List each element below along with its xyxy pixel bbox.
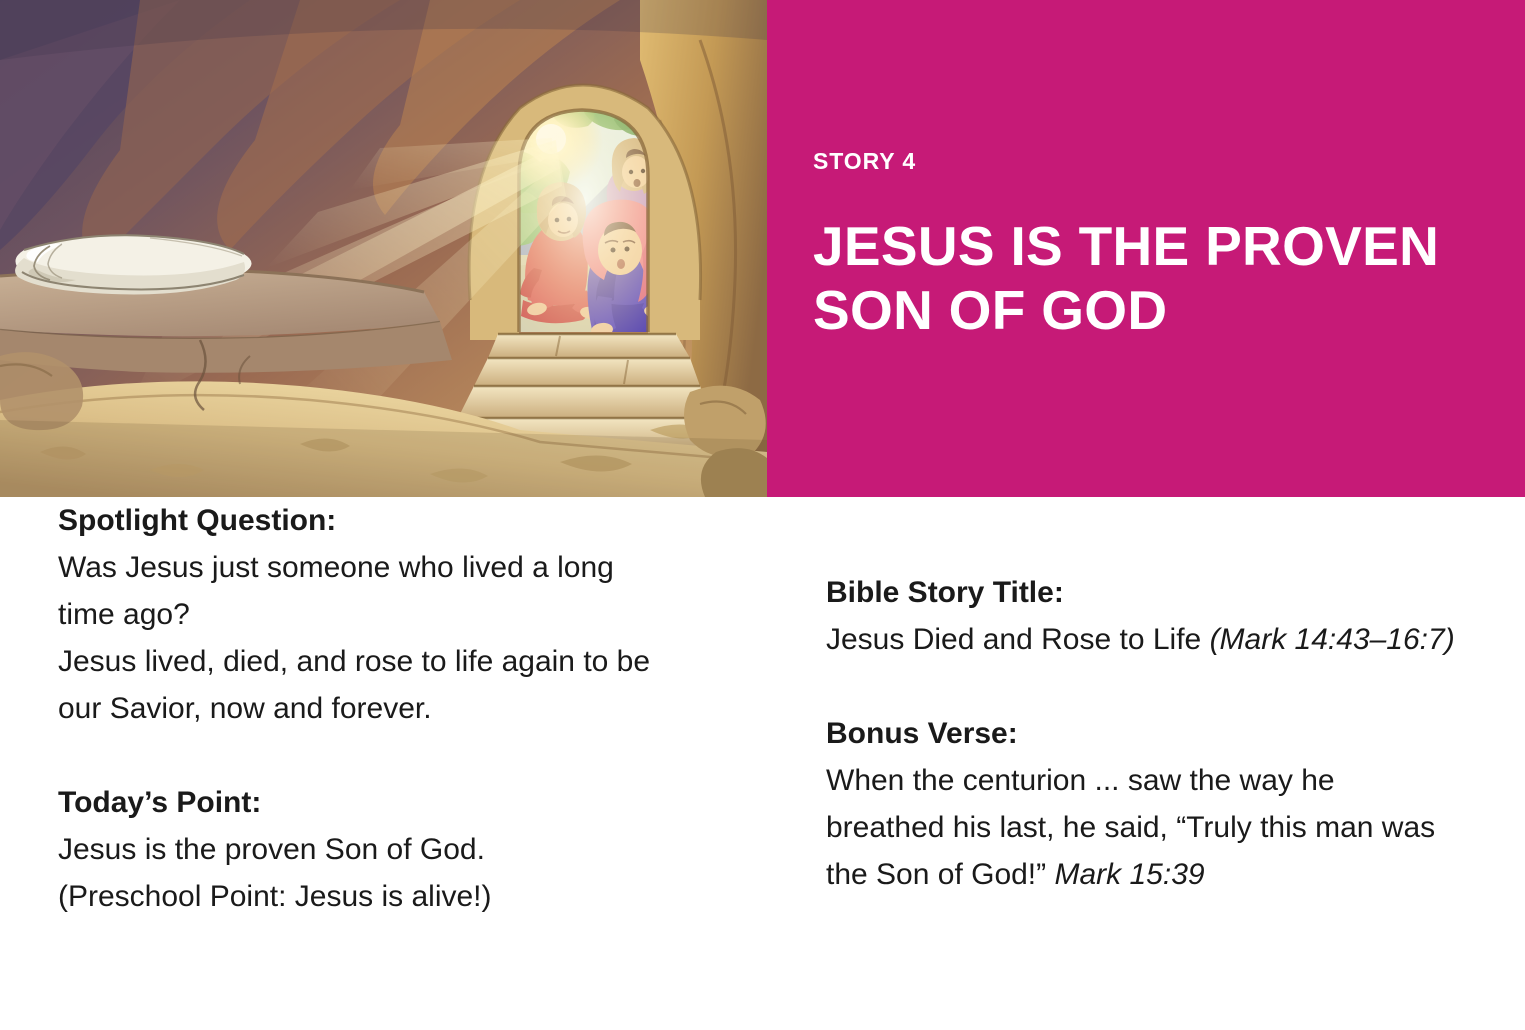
page-header: STORY 4 JESUS IS THE PROVEN SON OF GOD [0, 0, 1525, 497]
bonus-verse-block: Bonus Verse: When the centurion ... saw … [826, 710, 1486, 898]
bonus-verse-line-3: the Son of God!” Mark 15:39 [826, 851, 1486, 898]
todays-point-block: Today’s Point: Jesus is the proven Son o… [58, 779, 758, 920]
spotlight-question-line-1: Was Jesus just someone who lived a long [58, 544, 758, 591]
left-text-column: Spotlight Question: Was Jesus just someo… [58, 497, 758, 920]
spotlight-question-block: Spotlight Question: Was Jesus just someo… [58, 497, 758, 732]
tomb-illustration-art [0, 0, 767, 497]
story-eyebrow-prefix: STORY [813, 148, 895, 174]
bible-story-title-block: Bible Story Title: Jesus Died and Rose t… [826, 569, 1486, 663]
todays-point-line-1: Jesus is the proven Son of God. [58, 826, 758, 873]
bonus-verse-line-2: breathed his last, he said, “Truly this … [826, 804, 1486, 851]
page-title: JESUS IS THE PROVEN SON OF GOD [813, 215, 1475, 343]
story-eyebrow: STORY 4 [813, 150, 1475, 173]
bonus-verse-reference: Mark 15:39 [1054, 858, 1204, 891]
spotlight-question-line-4: our Savior, now and forever. [58, 685, 758, 732]
bible-story-title-text: Jesus Died and Rose to Life [826, 623, 1210, 656]
right-text-column: Bible Story Title: Jesus Died and Rose t… [826, 569, 1486, 898]
content-area: Spotlight Question: Was Jesus just someo… [0, 497, 1525, 1030]
todays-point-line-2: (Preschool Point: Jesus is alive!) [58, 873, 758, 920]
story-title-panel: STORY 4 JESUS IS THE PROVEN SON OF GOD [767, 0, 1525, 497]
bible-story-title-value: Jesus Died and Rose to Life (Mark 14:43–… [826, 616, 1486, 663]
bonus-verse-label: Bonus Verse: [826, 710, 1486, 757]
story-eyebrow-number: 4 [902, 148, 916, 174]
spotlight-question-line-2: time ago? [58, 591, 758, 638]
spotlight-question-line-3: Jesus lived, died, and rose to life agai… [58, 638, 758, 685]
bonus-verse-line-1: When the centurion ... saw the way he [826, 757, 1486, 804]
bonus-verse-text-end: the Son of God!” [826, 858, 1054, 891]
bible-story-title-label: Bible Story Title: [826, 569, 1486, 616]
tomb-illustration [0, 0, 767, 497]
bible-story-title-reference: (Mark 14:43–16:7) [1210, 623, 1455, 656]
todays-point-label: Today’s Point: [58, 779, 758, 826]
spotlight-question-label: Spotlight Question: [58, 497, 758, 544]
